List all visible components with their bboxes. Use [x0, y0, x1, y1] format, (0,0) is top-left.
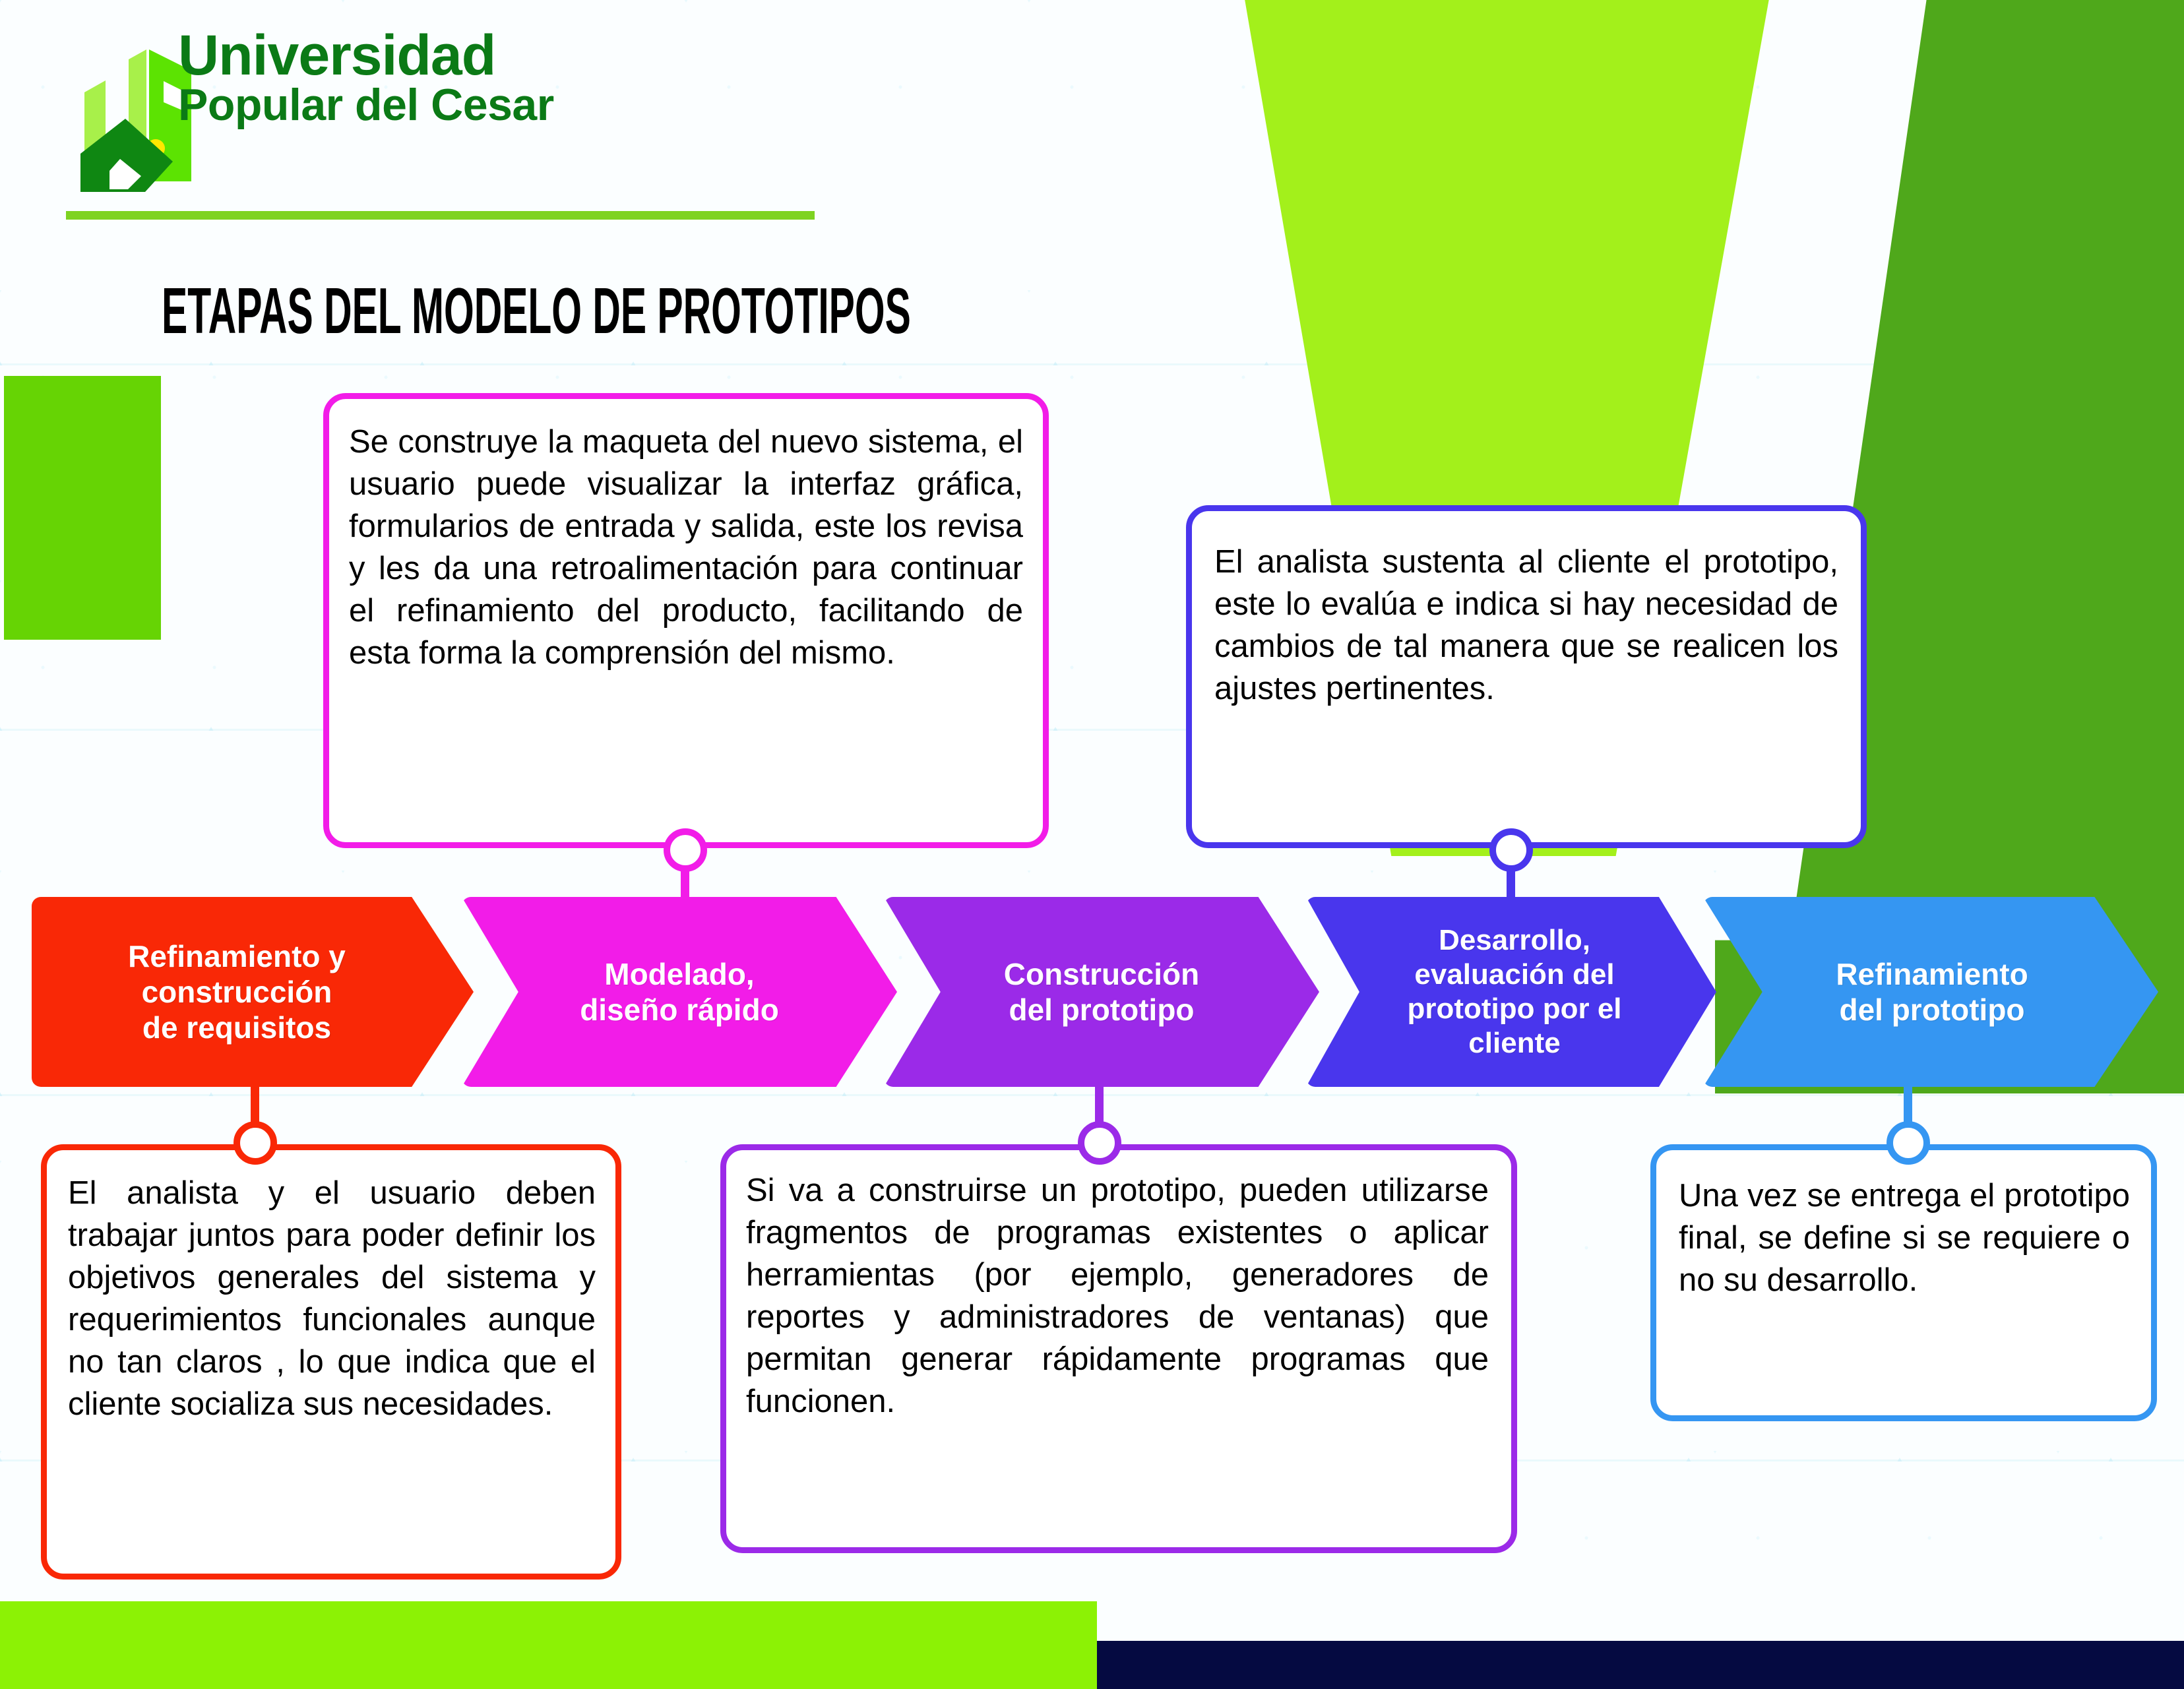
connector-circle-desarrollo	[1489, 828, 1533, 872]
brand-line-2: Popular del Cesar	[178, 83, 877, 127]
callout-desarrollo-text: El analista sustenta al cliente el proto…	[1192, 511, 1861, 710]
brand-underline	[66, 211, 815, 220]
brand-header: Universidad Popular del Cesar	[46, 13, 877, 224]
stage-chevron-desarrollo-evaluacion[interactable]: Desarrollo, evaluación del prototipo por…	[1306, 897, 1716, 1087]
callout-modelado-text: Se construye la maqueta del nuevo sistem…	[329, 399, 1043, 675]
connector-circle-requisitos	[234, 1121, 277, 1165]
brand-wordmark: Universidad Popular del Cesar	[178, 28, 877, 127]
callout-refinamiento: Una vez se entrega el prototipo final, s…	[1650, 1144, 2157, 1421]
page-title: ETAPAS DEL MODELO DE PROTOTIPOS	[162, 274, 911, 348]
decor-bottom-navy-bar	[1097, 1641, 2184, 1689]
connector-circle-modelado	[664, 828, 707, 872]
decor-green-left-block	[4, 376, 161, 640]
callout-requisitos-text: El analista y el usuario deben trabajar …	[47, 1150, 615, 1426]
connector-circle-refinamiento	[1887, 1121, 1930, 1165]
stage-chevron-refinamiento-requisitos[interactable]: Refinamiento y construcción de requisito…	[32, 897, 474, 1087]
callout-modelado: Se construye la maqueta del nuevo sistem…	[323, 393, 1049, 848]
brand-line-1: Universidad	[178, 28, 877, 83]
infographic-canvas: Universidad Popular del Cesar ETAPAS DEL…	[0, 0, 2184, 1689]
callout-desarrollo: El analista sustenta al cliente el proto…	[1186, 505, 1867, 848]
callout-construccion-text: Si va a construirse un prototipo, pueden…	[726, 1150, 1511, 1423]
stage-label-4: Desarrollo, evaluación del prototipo por…	[1395, 923, 1633, 1060]
callout-construccion: Si va a construirse un prototipo, pueden…	[720, 1144, 1517, 1553]
connector-circle-construccion	[1078, 1121, 1121, 1165]
stage-label-3: Construcción del prototipo	[992, 956, 1211, 1028]
stage-label-1: Refinamiento y construcción de requisito…	[116, 938, 358, 1046]
upc-logo-mark-icon	[59, 30, 191, 195]
stage-label-5: Refinamiento del prototipo	[1824, 956, 2040, 1028]
decor-bottom-green-bar	[0, 1601, 1097, 1689]
stage-chevron-construccion[interactable]: Construcción del prototipo	[884, 897, 1319, 1087]
callout-requisitos: El analista y el usuario deben trabajar …	[41, 1144, 621, 1580]
stage-chevron-modelado[interactable]: Modelado, diseño rápido	[462, 897, 897, 1087]
stage-label-2: Modelado, diseño rápido	[568, 956, 791, 1028]
callout-refinamiento-text: Una vez se entrega el prototipo final, s…	[1656, 1150, 2151, 1302]
stage-chevron-refinamiento-prototipo[interactable]: Refinamiento del prototipo	[1703, 897, 2158, 1087]
